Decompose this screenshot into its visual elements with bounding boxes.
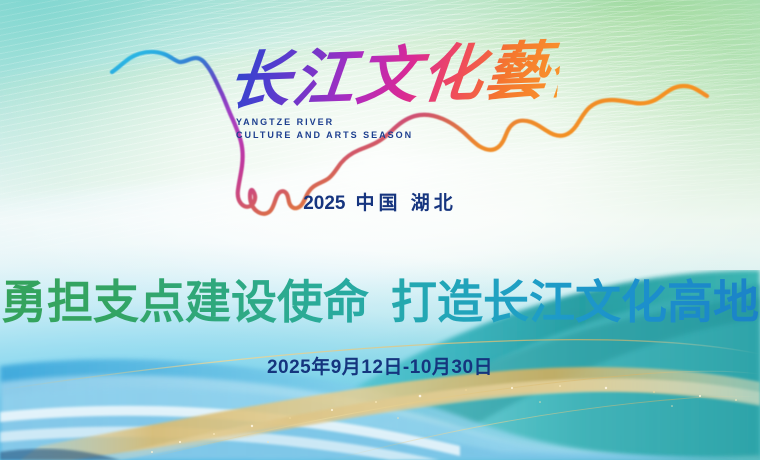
year-location-line: 2025中国 湖北 bbox=[0, 188, 760, 215]
year-text: 2025 bbox=[303, 193, 345, 214]
poster-canvas: 长江文化藝術季 YANGTZE RIVER CULTURE AND ARTS S… bbox=[0, 0, 760, 460]
english-subtitle: YANGTZE RIVER CULTURE AND ARTS SEASON bbox=[236, 116, 413, 142]
subtitle-line-2: CULTURE AND ARTS SEASON bbox=[236, 129, 413, 142]
calligraphy-title: 长江文化藝術季 bbox=[228, 42, 558, 124]
calligraphy-title-text: 长江文化藝術季 bbox=[224, 31, 564, 124]
location-text: 中国 湖北 bbox=[356, 193, 457, 214]
event-dateline: 2025年9月12日-10月30日 bbox=[0, 352, 760, 379]
subtitle-line-1: YANGTZE RIVER bbox=[236, 116, 413, 129]
headline-part-2: 打造长江文化高地 bbox=[391, 276, 759, 328]
headline-part-1: 勇担支点建设使命 bbox=[1, 276, 369, 328]
main-headline: 勇担支点建设使命打造长江文化高地 bbox=[0, 266, 760, 332]
